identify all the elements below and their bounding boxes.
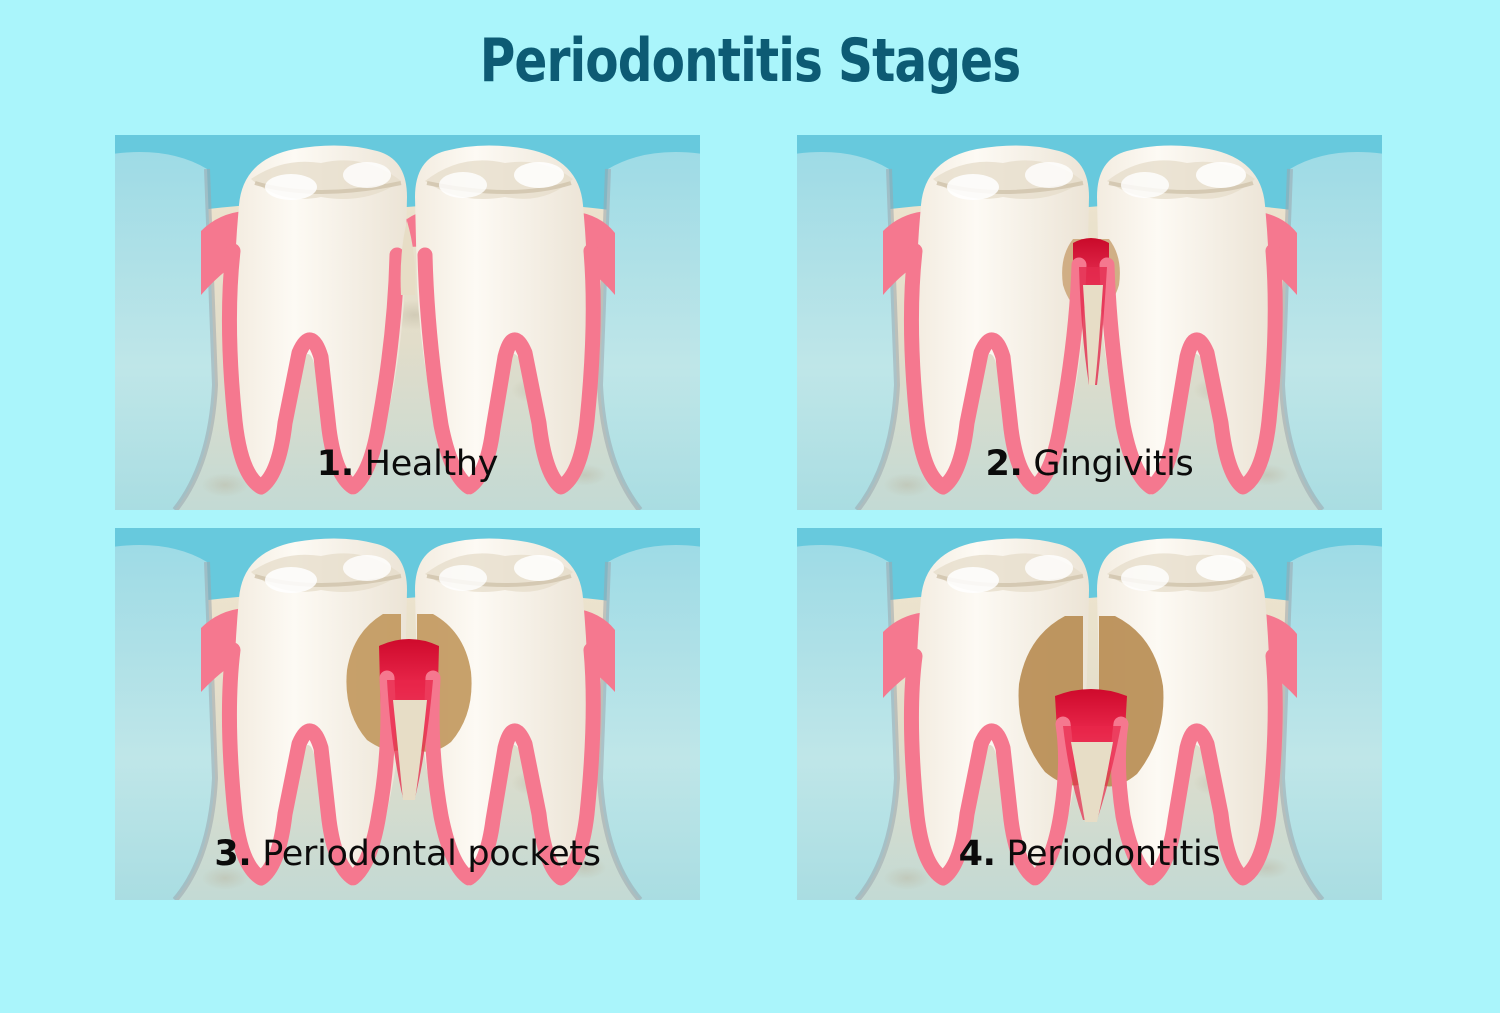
panel-name: Periodontal pockets (262, 834, 600, 874)
stage-panel-healthy: 1. Healthy (115, 135, 700, 510)
panel-index: 1. (317, 444, 354, 484)
panel-name: Periodontitis (1006, 834, 1220, 874)
stage-panel-periodontal-pockets: 3. Periodontal pockets (115, 528, 700, 900)
panel-name: Healthy (365, 444, 499, 484)
stages-grid: 1. Healthy (0, 0, 1500, 1013)
stage-panel-gingivitis: 2. Gingivitis (797, 135, 1382, 510)
panel-label-gingivitis: 2. Gingivitis (797, 444, 1382, 484)
panel-index: 3. (214, 834, 251, 874)
panel-label-periodontal-pockets: 3. Periodontal pockets (115, 834, 700, 874)
panel-name: Gingivitis (1033, 444, 1193, 484)
panel-label-healthy: 1. Healthy (115, 444, 700, 484)
panel-index: 4. (959, 834, 996, 874)
stage-panel-periodontitis: 4. Periodontitis (797, 528, 1382, 900)
panel-label-periodontitis: 4. Periodontitis (797, 834, 1382, 874)
panel-index: 2. (986, 444, 1023, 484)
